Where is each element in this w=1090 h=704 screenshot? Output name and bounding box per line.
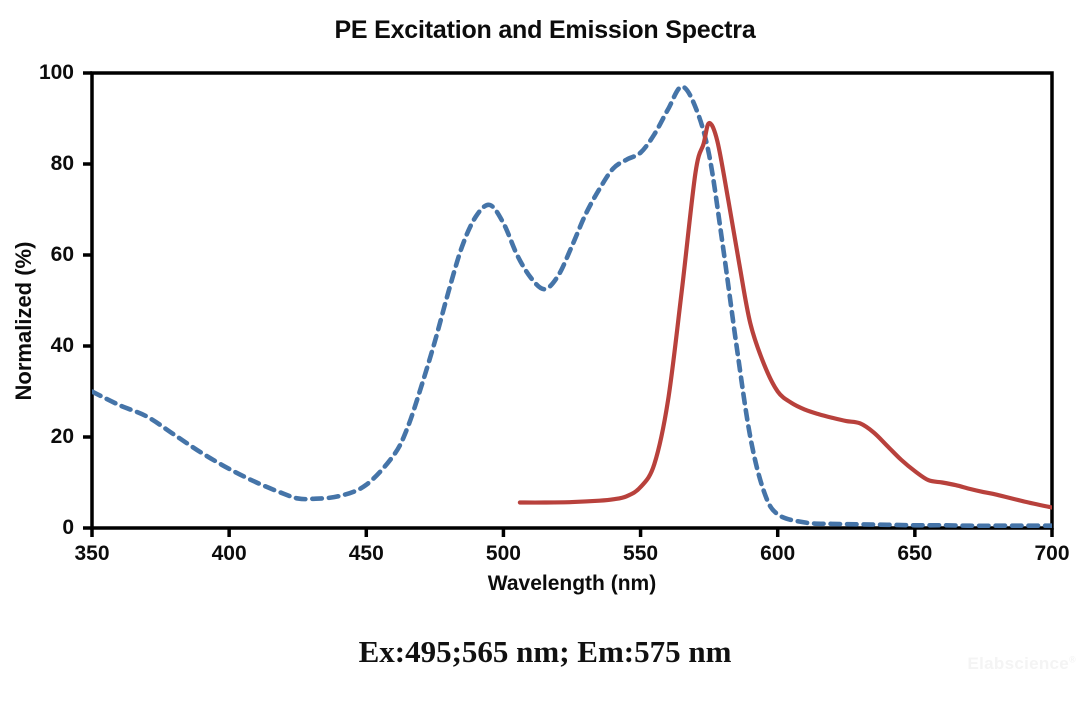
y-tick-label: 60 xyxy=(0,243,74,267)
x-tick-label: 400 xyxy=(212,542,247,566)
x-tick-label: 550 xyxy=(623,542,658,566)
x-tick-label: 700 xyxy=(1034,542,1069,566)
x-tick-label: 450 xyxy=(349,542,384,566)
y-tick-label: 20 xyxy=(0,425,74,449)
registered-mark-icon: ® xyxy=(1069,654,1076,664)
y-tick-label: 80 xyxy=(0,152,74,176)
watermark-text: Elabscience xyxy=(967,654,1069,673)
y-tick-label: 100 xyxy=(0,61,74,85)
x-tick-label: 650 xyxy=(897,542,932,566)
plot-area xyxy=(0,0,1090,704)
x-tick-label: 500 xyxy=(486,542,521,566)
chart-caption: Ex:495;565 nm; Em:575 nm xyxy=(0,634,1090,670)
x-tick-label: 350 xyxy=(74,542,109,566)
watermark: Elabscience® xyxy=(967,654,1076,674)
data-series xyxy=(92,87,1052,526)
y-tick-label: 40 xyxy=(0,334,74,358)
y-tick-label: 0 xyxy=(0,516,74,540)
chart-container: PE Excitation and Emission Spectra Norma… xyxy=(0,0,1090,704)
series-line-emission xyxy=(520,123,1052,507)
x-tick-label: 600 xyxy=(760,542,795,566)
series-line-excitation xyxy=(92,87,1052,526)
